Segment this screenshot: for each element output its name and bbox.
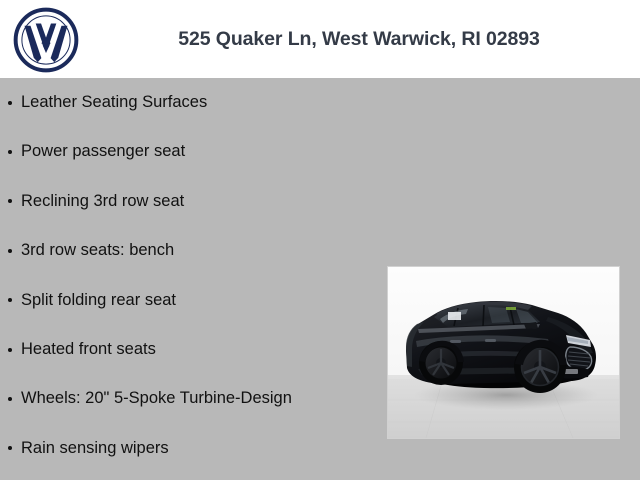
list-item: 3rd row seats: bench xyxy=(0,226,380,275)
list-item: Leather Seating Surfaces xyxy=(0,78,380,127)
bullet-icon xyxy=(8,101,12,105)
slide-page: 525 Quaker Ln, West Warwick, RI 02893 Le… xyxy=(0,0,640,480)
bullet-icon xyxy=(8,348,12,352)
list-item-label: Reclining 3rd row seat xyxy=(21,192,184,210)
list-item: Heated front seats xyxy=(0,325,380,374)
list-item-label: Power passenger seat xyxy=(21,142,185,160)
list-item-label: 3rd row seats: bench xyxy=(21,241,174,259)
list-item-label: Leather Seating Surfaces xyxy=(21,93,207,111)
list-item-label: Heated front seats xyxy=(21,340,156,358)
dealer-address: 525 Quaker Ln, West Warwick, RI 02893 xyxy=(0,0,640,78)
list-item-label: Rain sensing wipers xyxy=(21,439,169,457)
bullet-icon xyxy=(8,249,12,253)
vehicle-feature-list: Leather Seating Surfaces Power passenger… xyxy=(0,78,380,473)
list-item-label: Split folding rear seat xyxy=(21,291,176,309)
list-item: Power passenger seat xyxy=(0,127,380,176)
bullet-icon xyxy=(8,298,12,302)
bullet-icon xyxy=(8,199,12,203)
content-area: Leather Seating Surfaces Power passenger… xyxy=(0,78,640,480)
list-item-label: Wheels: 20" 5-Spoke Turbine-Design xyxy=(21,389,292,407)
list-item: Wheels: 20" 5-Spoke Turbine-Design xyxy=(0,374,380,423)
page-header: 525 Quaker Ln, West Warwick, RI 02893 xyxy=(0,0,640,78)
bullet-icon xyxy=(8,150,12,154)
vehicle-photo-illustration xyxy=(388,267,619,438)
list-item: Split folding rear seat xyxy=(0,276,380,325)
vehicle-photo xyxy=(388,267,619,438)
bullet-icon xyxy=(8,446,12,450)
list-item: Reclining 3rd row seat xyxy=(0,177,380,226)
list-item: Rain sensing wipers xyxy=(0,424,380,473)
bullet-icon xyxy=(8,397,12,401)
